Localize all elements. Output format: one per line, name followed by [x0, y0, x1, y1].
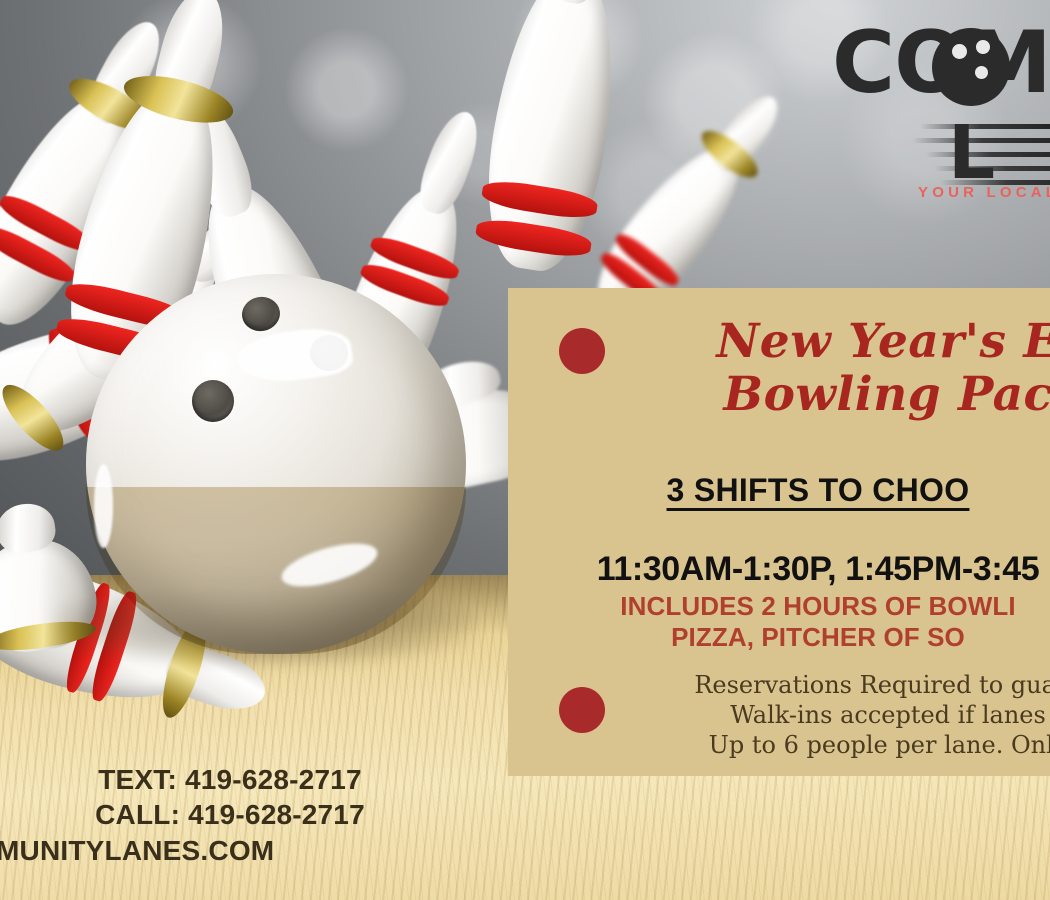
reservation-line-2: Walk-ins accepted if lanes [628, 700, 1050, 730]
bullet-dot-icon [559, 687, 605, 733]
headline: New Year's E Bowling Pac [628, 316, 1050, 421]
ball-finger-hole [192, 380, 234, 422]
headline-line-2: Bowling Pac [628, 369, 1050, 422]
reservation-note: Reservations Required to guara Walk-ins … [628, 670, 1050, 761]
brand-logo: COMM L YOUR LOCAL GATH [832, 12, 1050, 208]
reservation-line-3: Up to 6 people per lane. Only [628, 730, 1050, 760]
contact-call-number: CALL: 419-628-2717 [10, 797, 450, 832]
includes-line-2: PIZZA, PITCHER OF SO [508, 622, 1050, 653]
info-panel: New Year's E Bowling Pac 3 SHIFTS TO CHO… [508, 288, 1050, 776]
poster-canvas: COMM L YOUR LOCAL GATH New Year's E Bowl… [0, 0, 1050, 900]
bullet-dot-icon [559, 328, 605, 374]
headline-line-1: New Year's E [628, 316, 1050, 369]
includes-line-1: INCLUDES 2 HOURS OF BOWLI [508, 591, 1050, 622]
shifts-heading: 3 SHIFTS TO CHOO [508, 472, 1050, 509]
shift-times: 11:30AM-1:30P, 1:45PM-3:45 [508, 550, 1050, 589]
logo-word-bottom: L [948, 116, 995, 190]
bowling-ball-photo [86, 274, 466, 654]
ball-finger-hole [239, 294, 282, 334]
contact-website: MUNITYLANES.COM [0, 833, 450, 868]
package-includes: INCLUDES 2 HOURS OF BOWLI PIZZA, PITCHER… [508, 591, 1050, 652]
contact-info: TEXT: 419-628-2717 CALL: 419-628-2717 MU… [10, 762, 450, 868]
bowling-ball-icon [932, 28, 1010, 106]
reservation-line-1: Reservations Required to guara [628, 670, 1050, 700]
ball-highlight [94, 464, 113, 548]
logo-tagline: YOUR LOCAL GATH [918, 184, 1050, 201]
contact-text-number: TEXT: 419-628-2717 [10, 762, 450, 797]
ball-highlight [235, 323, 355, 388]
